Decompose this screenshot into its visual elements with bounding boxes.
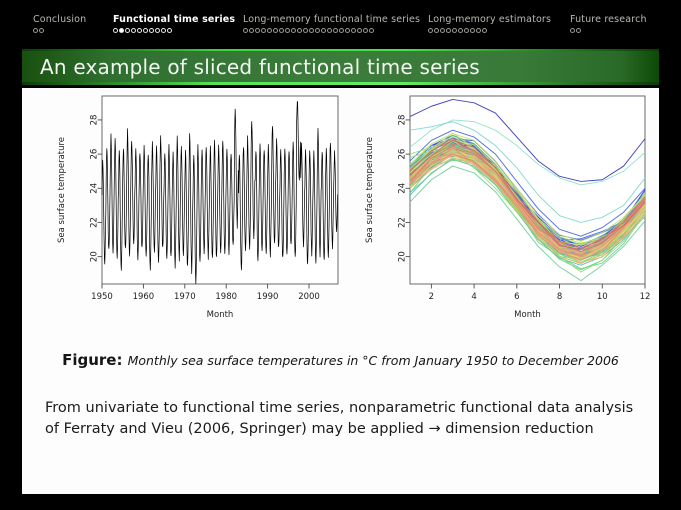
nav-dot[interactable] [33,28,38,33]
nav-section-label: Future research [570,14,647,25]
y-tick-label: 26 [398,149,408,160]
x-tick-label: 1960 [133,292,155,302]
x-axis-title: Month [207,310,234,320]
nav-dot[interactable] [446,28,451,33]
nav-dot[interactable] [39,28,44,33]
y-tick-label: 20 [90,251,100,262]
nav-slide-dots [113,28,235,33]
nav-dot[interactable] [297,28,302,33]
x-tick-label: 2000 [298,292,320,302]
x-tick-label: 1980 [215,292,237,302]
y-tick-label: 24 [90,183,100,194]
nav-section-long-memory-estimators[interactable]: Long-memory estimators [428,14,551,33]
presentation-slide: ConclusionFunctional time seriesLong-mem… [0,0,681,510]
chart-univariate-time-series: 1950196019701980199020002022242628MonthS… [50,88,350,350]
x-tick-label: 8 [557,292,562,302]
title-bar-bottom-highlight [22,82,659,85]
nav-dot[interactable] [149,28,154,33]
nav-section-label: Functional time series [113,14,235,25]
y-tick-label: 28 [398,115,408,126]
nav-dot[interactable] [155,28,160,33]
nav-dot[interactable] [363,28,368,33]
nav-dot[interactable] [261,28,266,33]
y-axis-title: Sea surface temperature [365,137,375,243]
nav-dot[interactable] [131,28,136,33]
nav-dot[interactable] [357,28,362,33]
nav-dot[interactable] [339,28,344,33]
y-axis-title: Sea surface temperature [57,137,67,243]
nav-section-long-memory-functional-time-series[interactable]: Long-memory functional time series [243,14,420,33]
x-tick-label: 12 [640,292,651,302]
nav-slide-dots [33,28,86,33]
nav-section-label: Long-memory estimators [428,14,551,25]
body-paragraph: From univariate to functional time serie… [45,398,640,440]
nav-section-label: Conclusion [33,14,86,25]
nav-dot[interactable] [255,28,260,33]
figure-caption-label: Figure: [62,351,122,369]
nav-dot[interactable] [470,28,475,33]
x-tick-label: 1950 [91,292,113,302]
y-tick-label: 28 [90,115,100,126]
nav-dot[interactable] [113,28,118,33]
nav-dot[interactable] [321,28,326,33]
slide-content: 1950196019701980199020002022242628MonthS… [22,88,659,494]
figure-panel: 1950196019701980199020002022242628MonthS… [22,88,659,356]
figure-caption: Figure: Monthly sea surface temperatures… [22,350,659,369]
x-tick-label: 2 [429,292,434,302]
nav-dot[interactable] [351,28,356,33]
nav-dot[interactable] [167,28,172,33]
nav-dot[interactable] [309,28,314,33]
slide-title-bar: An example of sliced functional time ser… [22,49,659,85]
x-tick-label: 1970 [174,292,196,302]
nav-dot[interactable] [482,28,487,33]
x-tick-label: 4 [471,292,476,302]
x-tick-label: 1990 [257,292,279,302]
nav-dot[interactable] [125,28,130,33]
nav-dot[interactable] [440,28,445,33]
y-tick-label: 20 [398,251,408,262]
x-tick-label: 10 [597,292,608,302]
nav-dot[interactable] [273,28,278,33]
nav-dot[interactable] [303,28,308,33]
nav-dot[interactable] [452,28,457,33]
nav-dot-current[interactable] [119,28,124,33]
figure-caption-text: Monthly sea surface temperatures in °C f… [128,353,619,368]
nav-dot[interactable] [570,28,575,33]
nav-slide-dots [570,28,647,33]
nav-dot[interactable] [143,28,148,33]
nav-section-functional-time-series[interactable]: Functional time series [113,14,235,33]
nav-dot[interactable] [476,28,481,33]
nav-slide-dots [243,28,420,33]
nav-section-conclusion[interactable]: Conclusion [33,14,86,33]
y-tick-label: 26 [90,149,100,160]
nav-dot[interactable] [279,28,284,33]
chart-sliced-functional-curves: 246810122022242628MonthSea surface tempe… [358,88,658,350]
y-tick-label: 22 [90,217,100,228]
nav-dot[interactable] [267,28,272,33]
nav-dot[interactable] [137,28,142,33]
y-tick-label: 22 [398,217,408,228]
nav-dot[interactable] [458,28,463,33]
nav-dot[interactable] [333,28,338,33]
nav-slide-dots [428,28,551,33]
page-title: An example of sliced functional time ser… [40,55,480,79]
nav-dot[interactable] [464,28,469,33]
univariate-time-series-svg: 1950196019701980199020002022242628MonthS… [50,88,350,350]
x-tick-label: 6 [514,292,519,302]
nav-section-label: Long-memory functional time series [243,14,420,25]
nav-dot[interactable] [249,28,254,33]
nav-dot[interactable] [291,28,296,33]
nav-dot[interactable] [243,28,248,33]
nav-dot[interactable] [428,28,433,33]
nav-dot[interactable] [161,28,166,33]
nav-dot[interactable] [369,28,374,33]
nav-dot[interactable] [576,28,581,33]
y-tick-label: 24 [398,183,408,194]
nav-dot[interactable] [327,28,332,33]
nav-dot[interactable] [434,28,439,33]
nav-dot[interactable] [285,28,290,33]
nav-section-future-research[interactable]: Future research [570,14,647,33]
nav-dot[interactable] [345,28,350,33]
nav-dot[interactable] [315,28,320,33]
title-bar-top-highlight [22,49,659,51]
section-navigation: ConclusionFunctional time seriesLong-mem… [0,14,681,46]
x-axis-title: Month [514,310,541,320]
sliced-functional-curves-svg: 246810122022242628MonthSea surface tempe… [358,88,658,350]
